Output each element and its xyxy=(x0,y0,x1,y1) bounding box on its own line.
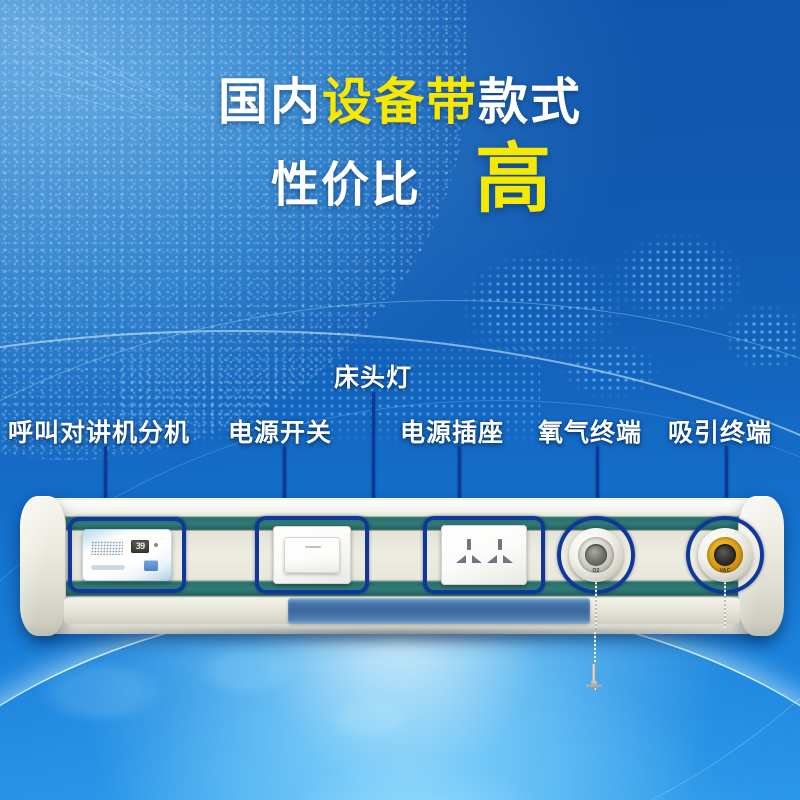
callout-label-switch: 电源开关 xyxy=(228,413,332,449)
callout-label-oxygen: 氧气终端 xyxy=(538,413,642,449)
poster-canvas: 国内设备带款式 性价比 高 呼叫对讲机分机 电源开关 床头灯 电源插座 氧气终端… xyxy=(0,0,800,800)
headline-value-text: 性价比 xyxy=(271,145,421,215)
bhu-drop-shadow xyxy=(66,630,738,646)
callout-label-suction: 吸引终端 xyxy=(668,413,772,449)
headline-emphasis: 高 xyxy=(475,145,551,215)
headline-line-2: 性价比 高 xyxy=(0,145,800,215)
bhu-top-highlight xyxy=(40,500,764,516)
bhu-blue-cover-channel xyxy=(288,598,590,624)
bed-head-unit: 39 O2 xyxy=(26,498,778,634)
headline-part-1: 国内 xyxy=(218,74,322,130)
highlight-box-intercom xyxy=(68,517,186,593)
callout-label-intercom: 呼叫对讲机分机 xyxy=(8,413,190,449)
pull-cord-pendant[interactable] xyxy=(586,664,602,698)
highlight-box-socket xyxy=(423,516,545,594)
highlight-box-switch xyxy=(255,516,369,594)
bhu-end-cap-left xyxy=(20,496,66,636)
pendant-cross-icon xyxy=(586,681,602,690)
callout-label-bedlamp: 床头灯 xyxy=(334,358,412,394)
headline-part-3: 款式 xyxy=(478,74,582,130)
oxygen-pull-chain[interactable] xyxy=(595,582,597,630)
headline-block: 国内设备带款式 性价比 高 xyxy=(0,76,800,215)
suction-pull-chain[interactable] xyxy=(724,582,726,628)
callout-label-socket: 电源插座 xyxy=(400,413,504,449)
headline-part-2: 设备带 xyxy=(322,74,478,130)
headline-line-1: 国内设备带款式 xyxy=(0,76,800,129)
